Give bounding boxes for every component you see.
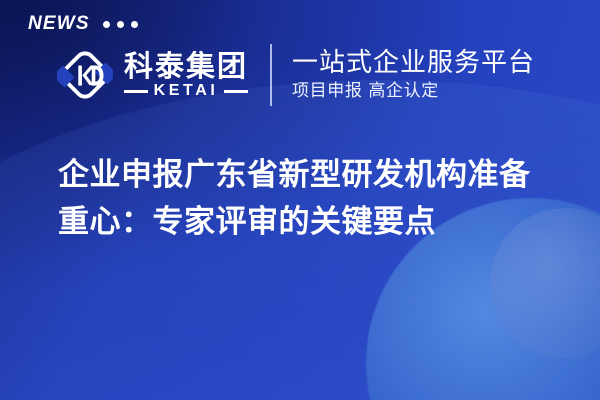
tagline-secondary: 项目申报 高企认定 <box>292 82 535 101</box>
headline-line-2: 重心：专家评审的关键要点 <box>58 199 558 246</box>
vertical-divider <box>270 44 272 106</box>
dot-icon <box>131 21 138 28</box>
headline-line-1: 企业申报广东省新型研发机构准备 <box>58 152 558 199</box>
brand-lockup: 科泰集团 KETAI 一站式企业服务平台 项目申报 高企认定 <box>57 44 535 106</box>
brand-wordmark: 科泰集团 KETAI <box>124 51 248 99</box>
brand-name-en-row: KETAI <box>124 83 248 99</box>
headline: 企业申报广东省新型研发机构准备 重心：专家评审的关键要点 <box>58 152 558 246</box>
brand-name-en: KETAI <box>154 83 219 99</box>
rule-left <box>124 90 148 93</box>
brand-logo: 科泰集团 KETAI <box>57 47 248 103</box>
news-badge: NEWS <box>28 14 138 33</box>
dot-icon <box>103 21 110 28</box>
dot-icon <box>117 21 124 28</box>
news-badge-label: NEWS <box>28 14 90 33</box>
tagline-primary: 一站式企业服务平台 <box>292 49 535 78</box>
brand-name-cn: 科泰集团 <box>124 51 248 81</box>
news-badge-dots <box>103 21 138 28</box>
ketai-diamond-monogram-icon <box>57 47 113 103</box>
rule-right <box>224 90 248 93</box>
tagline-block: 一站式企业服务平台 项目申报 高企认定 <box>292 49 535 100</box>
news-banner: NEWS 科泰集团 <box>0 0 600 400</box>
